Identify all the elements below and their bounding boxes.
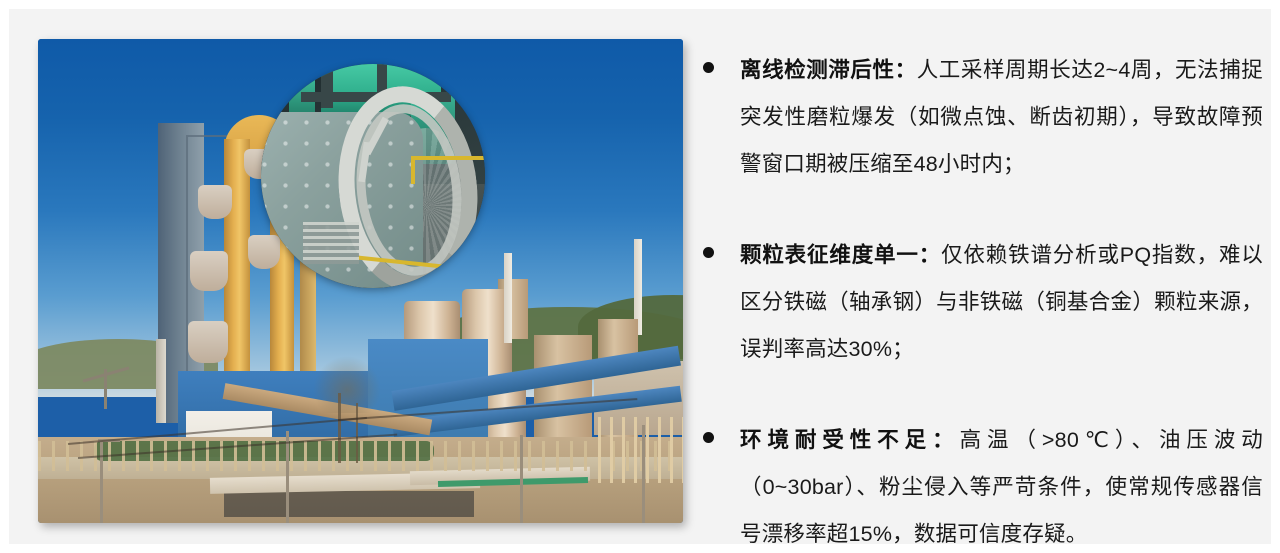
chimney-left <box>156 339 166 423</box>
mill-handrail-1 <box>411 156 485 160</box>
mill-roof-beam-2 <box>321 64 333 108</box>
photo-canvas <box>38 39 683 523</box>
mill-access-stair <box>303 222 359 264</box>
light-pole-3 <box>520 435 523 523</box>
bullet-lead-2: 颗粒表征维度单一： <box>740 243 941 267</box>
bullet-lead-3: 环境耐受性不足： <box>740 428 960 452</box>
light-pole-2 <box>286 431 289 523</box>
cyclone-1 <box>198 185 232 219</box>
bullet-text-2: 颗粒表征维度单一：仅依赖铁谱分析或PQ指数，难以区分铁磁（轴承钢）与非铁磁（铜基… <box>740 232 1263 373</box>
canopy-shadow <box>224 491 474 517</box>
cement-plant-photo <box>38 39 683 523</box>
cyclone-2 <box>190 251 228 291</box>
list-item: 环境耐受性不足：高温（>80℃）、油压波动（0~30bar）、粉尘侵入等严苛条件… <box>703 417 1263 553</box>
ball-mill-inset <box>261 64 485 288</box>
cyclone-3 <box>188 321 228 363</box>
mill-handrail-2 <box>411 156 415 184</box>
list-item: 离线检测滞后性：人工采样周期长达2~4周，无法捕捉突发性磨粒爆发（如微点蚀、断齿… <box>703 47 1263 188</box>
chimney-mid <box>504 253 512 343</box>
list-item: 颗粒表征维度单一：仅依赖铁谱分析或PQ指数，难以区分铁磁（轴承钢）与非铁磁（铜基… <box>703 232 1263 373</box>
bullet-dot-icon <box>703 247 714 258</box>
light-pole-4 <box>642 425 645 523</box>
tree-canopy <box>314 355 380 413</box>
pain-point-bullet-list: 离线检测滞后性：人工采样周期长达2~4周，无法捕捉突发性磨粒爆发（如微点蚀、断齿… <box>703 47 1263 553</box>
bullet-text-1: 离线检测滞后性：人工采样周期长达2~4周，无法捕捉突发性磨粒爆发（如微点蚀、断齿… <box>740 47 1263 188</box>
perimeter-fence <box>38 441 683 471</box>
perimeter-fence-right <box>598 417 683 483</box>
slide-root: 离线检测滞后性：人工采样周期长达2~4周，无法捕捉突发性磨粒爆发（如微点蚀、断齿… <box>0 0 1280 553</box>
bullet-dot-icon <box>703 432 714 443</box>
bullet-dot-icon <box>703 62 714 73</box>
crane-mast <box>104 369 107 409</box>
bullet-lead-1: 离线检测滞后性： <box>740 58 917 82</box>
bullet-text-3: 环境耐受性不足：高温（>80℃）、油压波动（0~30bar）、粉尘侵入等严苛条件… <box>740 417 1263 553</box>
light-pole-1 <box>100 439 103 523</box>
